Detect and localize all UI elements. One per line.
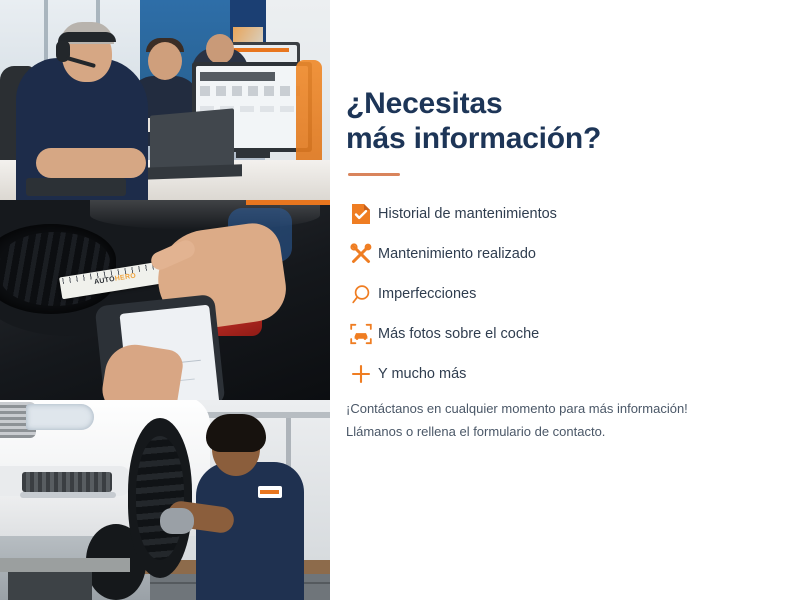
second-agent-head	[148, 42, 182, 80]
feature-item-imperfections: Imperfecciones	[344, 274, 674, 314]
feature-item-service-history: Historial de mantenimientos	[344, 194, 674, 234]
magnifier-icon	[344, 284, 378, 305]
document-check-icon	[344, 203, 378, 225]
tyre-tread	[0, 232, 110, 306]
orange-top-strip	[246, 200, 330, 205]
car-lift-base	[8, 572, 92, 600]
feature-label: Y mucho más	[378, 366, 466, 382]
monitor-stand	[236, 150, 270, 158]
feature-item-more-photos: Más fotos sobre el coche	[344, 314, 674, 354]
feature-item-maintenance-done: Mantenimiento realizado	[344, 234, 674, 274]
contact-line-1: ¡Contáctanos en cualquier momento para m…	[346, 398, 766, 421]
feature-label: Mantenimiento realizado	[378, 246, 536, 262]
mechanic-glove	[160, 508, 194, 534]
plus-icon	[344, 363, 378, 385]
car-scan-icon	[344, 323, 378, 345]
mechanic-hair	[206, 414, 266, 452]
feature-item-much-more: Y mucho más	[344, 354, 674, 394]
third-agent-head	[206, 34, 234, 64]
feature-label: Historial de mantenimientos	[378, 206, 557, 222]
car-lift-arm	[0, 558, 130, 572]
feature-label: Más fotos sobre el coche	[378, 326, 539, 342]
agent-arm	[36, 148, 146, 178]
content-panel: ¿Necesitas más información? Historial de…	[330, 0, 799, 600]
contact-line-2: Llámanos o rellena el formulario de cont…	[346, 421, 766, 444]
tools-icon	[344, 243, 378, 265]
page-title-line-1: ¿Necesitas	[346, 87, 502, 120]
title-divider	[348, 173, 400, 176]
page-title: ¿Necesitas más información?	[346, 86, 646, 156]
uniform-logo	[258, 486, 282, 498]
bumper-vent	[22, 472, 112, 492]
feature-label: Imperfecciones	[378, 286, 476, 302]
screen-icon-row	[200, 86, 300, 96]
front-wheel	[128, 418, 192, 578]
promo-banner: AUTOHERO	[0, 0, 799, 600]
car-headlight	[26, 404, 94, 430]
feature-list: Historial de mantenimientos Mantenimient…	[344, 194, 674, 394]
photo-damage-inspection: AUTOHERO	[0, 200, 330, 400]
page-title-line-2: más información?	[346, 122, 601, 155]
photo-column: AUTOHERO	[0, 0, 330, 600]
photo-wheel-inspection	[0, 400, 330, 600]
photo-call-center	[0, 0, 330, 200]
chrome-trim	[20, 492, 116, 498]
screen-header-bar	[200, 72, 275, 81]
wheel-sidewall	[136, 436, 184, 560]
keyboard	[26, 178, 126, 196]
laptop	[150, 108, 234, 177]
contact-text: ¡Contáctanos en cualquier momento para m…	[346, 398, 766, 444]
